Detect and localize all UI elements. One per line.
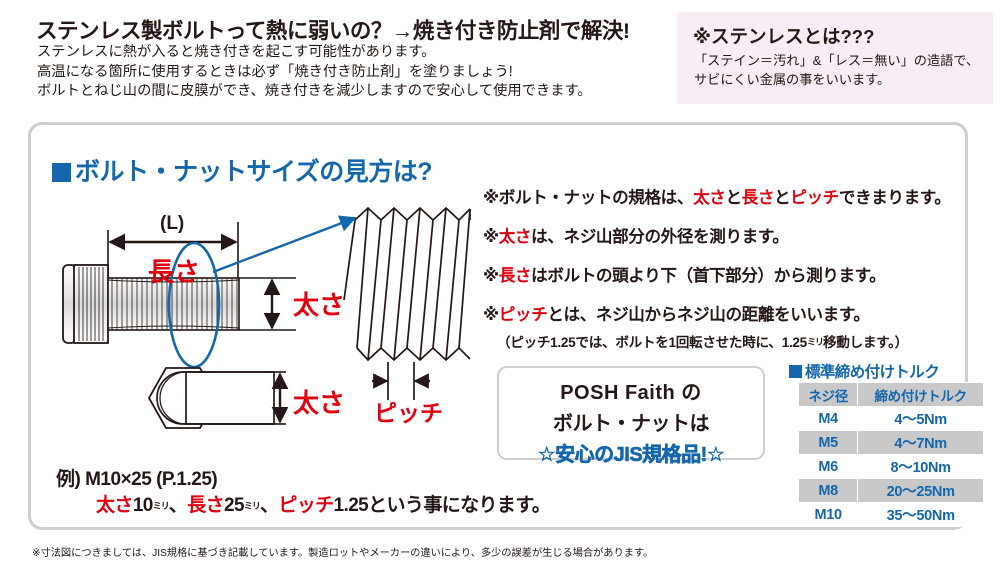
text-run: できまります。 [839, 188, 951, 207]
bullet-spec: ※ボルト・ナットの規格は、太さと長さとピッチできまります。 [483, 184, 988, 208]
stainless-definition-title: ※ステンレスとは??? [693, 23, 874, 49]
cell-torque-value: 35〜50Nm [858, 503, 984, 527]
torque-table-title: 標準締め付けトルク [789, 360, 939, 382]
cell-screw-size: M10 [799, 503, 858, 527]
table-header-size: ネジ径 [799, 383, 858, 407]
table-row: M820〜25Nm [799, 479, 984, 503]
table-row: M68〜10Nm [799, 455, 984, 479]
highlight-term: ピッチ [278, 495, 333, 516]
stainless-definition-body: 「ステイン＝汚れ」&「レス＝無い」の造語で、 サビにくい金属の事をいいます。 [694, 51, 984, 89]
highlight-term: ピッチ [790, 188, 839, 207]
text-run: 、 [169, 495, 187, 516]
label-pitch: ピッチ [374, 394, 443, 428]
cell-screw-size: M4 [799, 407, 858, 431]
table-row: M44〜5Nm [799, 407, 984, 431]
cell-screw-size: M5 [799, 431, 858, 455]
cell-torque-value: 20〜25Nm [858, 479, 984, 503]
text-run: ※ [483, 266, 499, 285]
table-row: M1035〜50Nm [799, 503, 984, 527]
text-run: と [774, 188, 790, 207]
example-line-2: 太さ10ミリ、長さ25ミリ、ピッチ1.25という事になります。 [96, 490, 550, 517]
cell-screw-size: M8 [799, 479, 858, 503]
cell-torque-value: 8〜10Nm [858, 455, 984, 479]
text-run: ミリ [807, 337, 823, 347]
bullet-list: ※ボルト・ナットの規格は、太さと長さとピッチできまります。 ※太さは、ネジ山部分… [483, 184, 988, 366]
panel-title: ボルト・ナットサイズの見方は? [52, 152, 432, 188]
page-headline: ステンレス製ボルトって熱に弱いの？→焼き付き防止剤で解決! [36, 14, 656, 45]
text-run: 25 [224, 495, 244, 516]
label-thickness-nut: 太さ [293, 383, 345, 420]
cell-torque-value: 4〜5Nm [858, 407, 984, 431]
blue-square-bullet-icon [52, 163, 71, 182]
stainless-definition-line-2: サビにくい金属の事をいいます。 [694, 70, 984, 89]
text-run: ※ [483, 227, 499, 246]
posh-line-1: POSH Faith の [499, 376, 763, 405]
text-run: 移動します。） [823, 335, 908, 350]
torque-table: ネジ径 締め付けトルク M44〜5NmM54〜7NmM68〜10NmM820〜2… [798, 382, 984, 527]
text-run: 10 [133, 495, 153, 516]
text-run: ミリ [244, 501, 260, 511]
intro-line-3: ボルトとねじ山の間に皮膜ができ、焼き付きを減少しますので安心して使用できます。 [37, 82, 667, 102]
text-run: 、 [260, 495, 278, 516]
torque-table-body: M44〜5NmM54〜7NmM68〜10NmM820〜25NmM1035〜50N… [799, 407, 984, 527]
table-header-row: ネジ径 締め付けトルク [799, 383, 984, 407]
text-run: （ピッチ1.25では、ボルトを1回転させた時に、1.25 [497, 335, 807, 350]
intro-line-1: ステンレスに熱が入ると焼き付きを起こす可能性があります。 [37, 43, 667, 63]
posh-line-3: ☆安心のJIS規格品!☆ [499, 438, 763, 467]
bullet-length: ※長さはボルトの頭より下（首下部分）から測ります。 [483, 262, 988, 286]
stainless-definition-line-1: 「ステイン＝汚れ」&「レス＝無い」の造語で、 [694, 51, 984, 70]
highlight-term: 太さ [499, 227, 531, 246]
footnote: ※寸法図につきましては、JIS規格に基づき記載しています。製造ロットやメーカーの… [32, 544, 653, 559]
intro-line-2: 高温になる箇所に使用するときは必ず「焼き付き防止剤」を塗りましょう! [37, 63, 667, 83]
bullet-pitch-note: （ピッチ1.25では、ボルトを1回転させた時に、1.25ミリ移動します。） [497, 331, 988, 351]
text-run: とは、ネジ山からネジ山の距離をいいます。 [547, 305, 869, 324]
stainless-definition-box: ※ステンレスとは??? 「ステイン＝汚れ」&「レス＝無い」の造語で、 サビにくい… [677, 12, 993, 104]
posh-faith-box: POSH Faith の ボルト・ナットは ☆安心のJIS規格品!☆ [497, 366, 765, 460]
bullet-thickness: ※太さは、ネジ山部分の外径を測ります。 [483, 223, 988, 247]
highlight-term: 長さ [499, 266, 531, 285]
example-line-1: 例) M10×25 (P.1.25) [56, 464, 217, 491]
highlight-term: 長さ [742, 188, 774, 207]
highlight-term: ピッチ [499, 305, 548, 324]
table-row: M54〜7Nm [799, 431, 984, 455]
bullet-pitch: ※ピッチとは、ネジ山からネジ山の距離をいいます。 [483, 301, 988, 325]
page-intro-text: ステンレスに熱が入ると焼き付きを起こす可能性があります。 高温になる箇所に使用す… [37, 43, 667, 102]
cell-torque-value: 4〜7Nm [858, 431, 984, 455]
text-run: ※ [483, 305, 499, 324]
highlight-term: 太さ [693, 188, 725, 207]
page-root: ステンレス製ボルトって熱に弱いの？→焼き付き防止剤で解決! ステンレスに熱が入る… [0, 0, 1000, 572]
text-run: は、ネジ山部分の外径を測ります。 [531, 227, 788, 246]
text-run: ミリ [153, 501, 169, 511]
label-thickness-bolt: 太さ [293, 285, 345, 322]
highlight-term: 長さ [187, 495, 224, 516]
label-length: 長さ [148, 252, 200, 289]
cell-screw-size: M6 [799, 455, 858, 479]
torque-table-title-text: 標準締め付けトルク [805, 364, 939, 381]
highlight-term: 太さ [96, 495, 133, 516]
label-L: (L) [160, 213, 184, 235]
blue-square-bullet-small-icon [789, 365, 802, 378]
text-run: 1.25という事になります。 [334, 495, 551, 516]
posh-line-2: ボルト・ナットは [499, 407, 763, 436]
text-run: ※ボルト・ナットの規格は、 [483, 188, 693, 207]
text-run: はボルトの頭より下（首下部分）から測ります。 [531, 266, 885, 285]
table-header-torque: 締め付けトルク [858, 383, 984, 407]
panel-title-text: ボルト・ナットサイズの見方は? [75, 158, 432, 186]
text-run: と [725, 188, 741, 207]
